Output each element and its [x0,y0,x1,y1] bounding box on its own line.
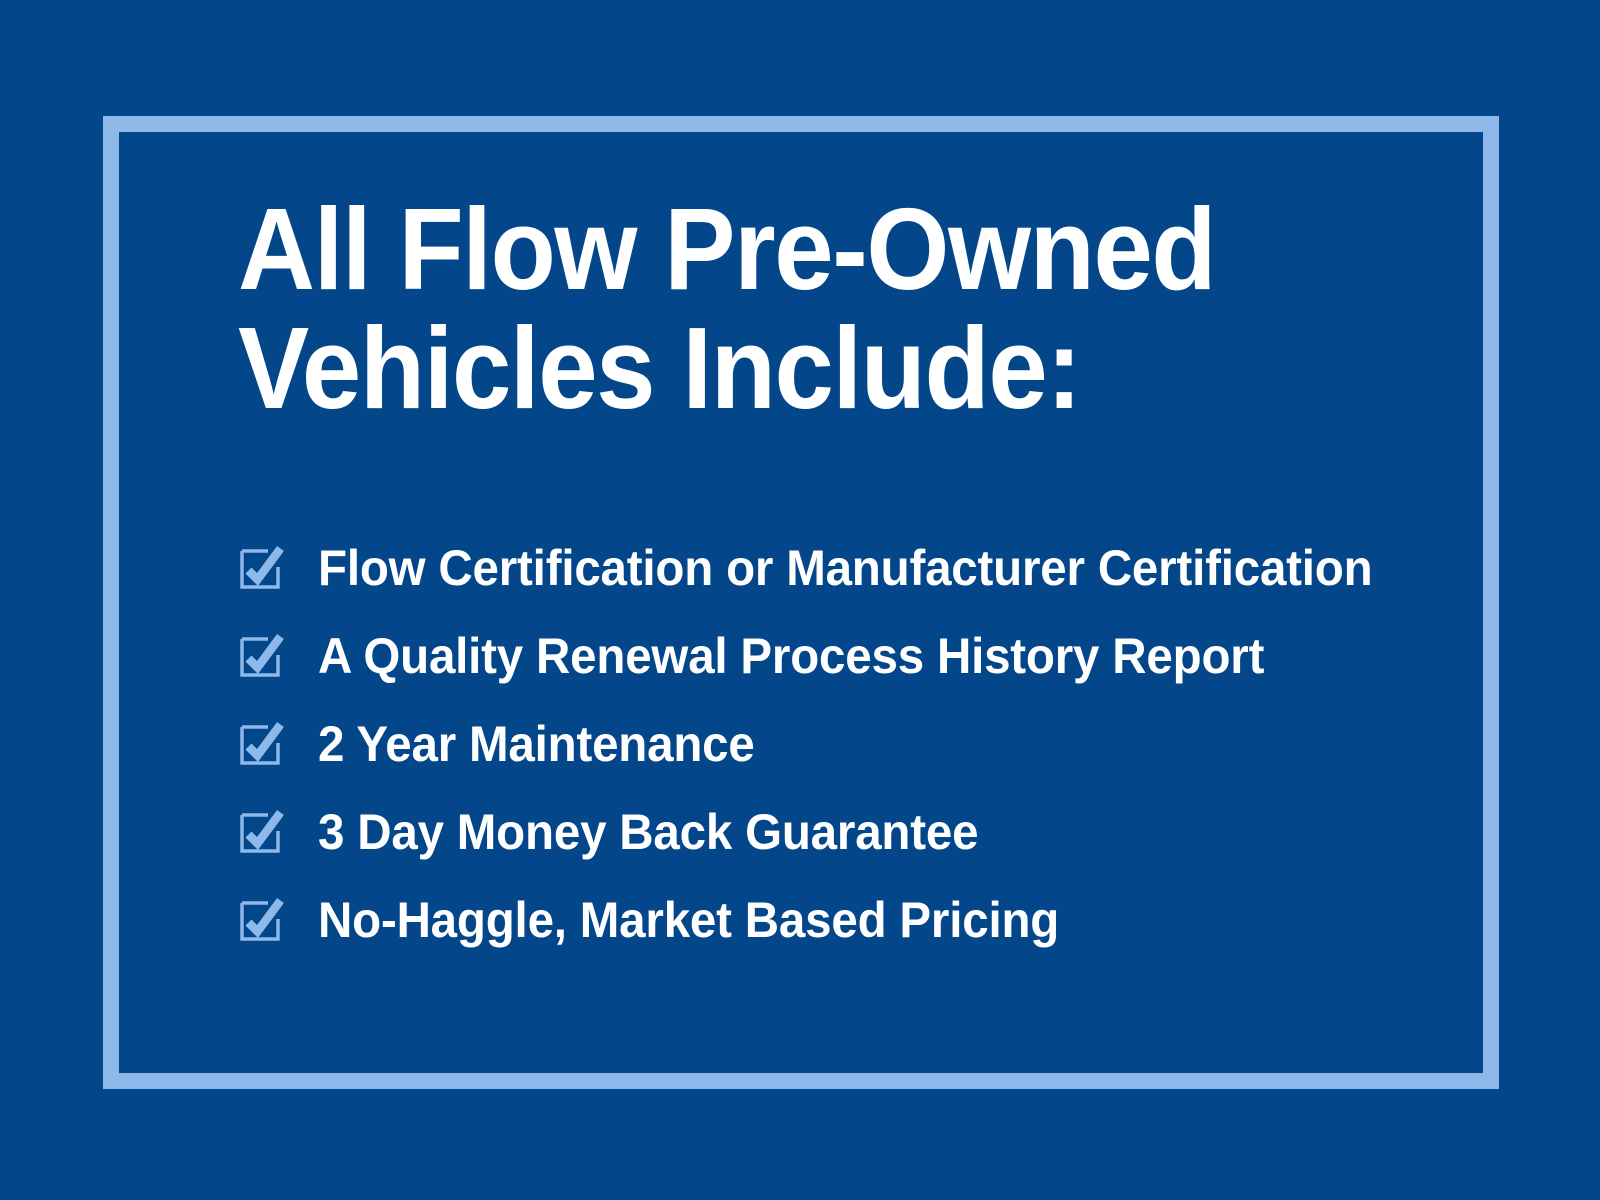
checked-checkbox-icon [238,897,284,943]
list-item: No-Haggle, Market Based Pricing [238,876,1438,964]
list-item: A Quality Renewal Process History Report [238,612,1438,700]
list-item: 3 Day Money Back Guarantee [238,788,1438,876]
list-item: 2 Year Maintenance [238,700,1438,788]
checked-checkbox-icon [238,545,284,591]
page-title: All Flow Pre-Owned Vehicles Include: [238,190,1342,429]
list-item-label: 3 Day Money Back Guarantee [318,807,978,857]
promo-banner: All Flow Pre-Owned Vehicles Include: Flo… [0,0,1600,1200]
list-item-label: A Quality Renewal Process History Report [318,631,1264,681]
benefits-checklist: Flow Certification or Manufacturer Certi… [238,524,1438,964]
list-item-label: 2 Year Maintenance [318,719,755,769]
checked-checkbox-icon [238,633,284,679]
checked-checkbox-icon [238,809,284,855]
list-item-label: No-Haggle, Market Based Pricing [318,895,1059,945]
list-item: Flow Certification or Manufacturer Certi… [238,524,1438,612]
checked-checkbox-icon [238,721,284,767]
promo-content: All Flow Pre-Owned Vehicles Include: Flo… [238,190,1438,429]
list-item-label: Flow Certification or Manufacturer Certi… [318,543,1372,593]
